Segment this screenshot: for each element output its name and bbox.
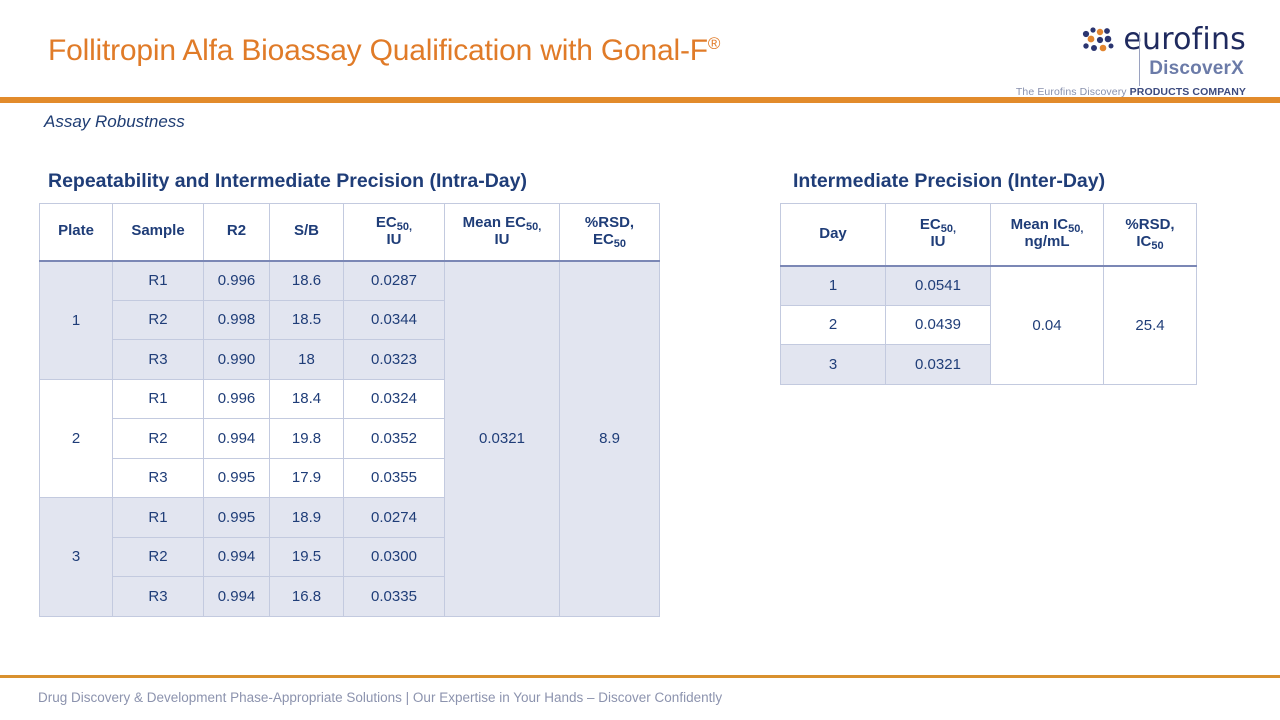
cell-mean-ec50: 0.0321: [445, 261, 560, 617]
inter-day-table-body: 10.05410.0425.420.043930.0321: [781, 266, 1197, 385]
intra-day-table-head: Plate Sample R2 S/B EC50,IU Mean EC50,IU…: [40, 204, 660, 261]
logo-wordmark: eurofins: [1123, 25, 1246, 55]
col-header-rsd-ic50: %RSD,IC50: [1104, 204, 1197, 266]
col-header-r2: R2: [204, 204, 270, 261]
rsd-label: %RSD,: [1125, 216, 1174, 233]
cell-plate: 1: [40, 261, 113, 380]
cell-sb: 19.8: [270, 419, 344, 459]
logo-divider: [1139, 32, 1140, 86]
intra-day-table: Plate Sample R2 S/B EC50,IU Mean EC50,IU…: [39, 203, 660, 617]
cell-ec50: 0.0300: [344, 537, 445, 577]
cell-r2: 0.995: [204, 458, 270, 498]
cell-r2: 0.998: [204, 300, 270, 340]
footer-accent-rule: [0, 675, 1280, 678]
col-header-ec50-iu: EC50,IU: [886, 204, 991, 266]
col-header-mean-ec50-iu: Mean EC50,IU: [445, 204, 560, 261]
cell-sb: 18.9: [270, 498, 344, 538]
cell-ec50: 0.0352: [344, 419, 445, 459]
mean-ic50-unit: ng/mL: [1025, 233, 1070, 250]
inter-day-table-head: Day EC50,IU Mean IC50,ng/mL %RSD,IC50: [781, 204, 1197, 266]
mean-ec50-unit: IU: [495, 231, 510, 248]
cell-r2: 0.996: [204, 379, 270, 419]
col-header-rsd-ec50: %RSD,EC50: [560, 204, 660, 261]
inter-day-table: Day EC50,IU Mean IC50,ng/mL %RSD,IC50 10…: [780, 203, 1197, 385]
table-header-row: Day EC50,IU Mean IC50,ng/mL %RSD,IC50: [781, 204, 1197, 266]
cell-sb: 16.8: [270, 577, 344, 617]
ec50-prefix: EC: [920, 216, 941, 233]
col-header-day: Day: [781, 204, 886, 266]
footer-tagline: Drug Discovery & Development Phase-Appro…: [38, 690, 722, 705]
table-row: 1R10.99618.60.02870.03218.9: [40, 261, 660, 301]
registered-mark: ®: [708, 34, 720, 53]
col-header-plate: Plate: [40, 204, 113, 261]
cell-ec50: 0.0274: [344, 498, 445, 538]
cell-sample: R3: [113, 577, 204, 617]
page-title-text: Follitropin Alfa Bioassay Qualification …: [48, 34, 708, 67]
cell-r2: 0.995: [204, 498, 270, 538]
cell-ec50: 0.0324: [344, 379, 445, 419]
cell-ec50: 0.0321: [886, 345, 991, 385]
cell-r2: 0.994: [204, 537, 270, 577]
page-title: Follitropin Alfa Bioassay Qualification …: [48, 34, 720, 68]
cell-sample: R3: [113, 340, 204, 380]
cell-mean-ic50: 0.04: [991, 266, 1104, 385]
cell-r2: 0.994: [204, 419, 270, 459]
intra-day-table-body: 1R10.99618.60.02870.03218.9R20.99818.50.…: [40, 261, 660, 617]
cell-ec50: 0.0335: [344, 577, 445, 617]
cell-sb: 17.9: [270, 458, 344, 498]
cell-day: 2: [781, 305, 886, 345]
cell-sample: R2: [113, 419, 204, 459]
mean-ic50-subscript: 50,: [1068, 223, 1083, 235]
cell-sample: R1: [113, 498, 204, 538]
cell-ec50: 0.0355: [344, 458, 445, 498]
cell-sb: 18.5: [270, 300, 344, 340]
cell-day: 3: [781, 345, 886, 385]
rsd-ic50-prefix: IC: [1136, 233, 1151, 250]
left-table-title: Repeatability and Intermediate Precision…: [48, 170, 527, 193]
logo-primary-row: eurofins: [978, 20, 1246, 60]
rsd-ic50-subscript: 50: [1151, 240, 1163, 252]
logo-brand-discoverx: DiscoverX: [978, 58, 1246, 80]
mean-ec50-prefix: Mean EC: [463, 214, 526, 231]
mean-ec50-subscript: 50,: [526, 221, 541, 233]
table-header-row: Plate Sample R2 S/B EC50,IU Mean EC50,IU…: [40, 204, 660, 261]
cell-sample: R2: [113, 537, 204, 577]
right-table-title: Intermediate Precision (Inter-Day): [793, 170, 1105, 193]
cell-sample: R1: [113, 379, 204, 419]
cell-r2: 0.990: [204, 340, 270, 380]
cell-ec50: 0.0344: [344, 300, 445, 340]
cell-rsd-ec50: 8.9: [560, 261, 660, 617]
cell-ec50: 0.0323: [344, 340, 445, 380]
cell-sb: 18.4: [270, 379, 344, 419]
cell-ec50: 0.0287: [344, 261, 445, 301]
cell-r2: 0.996: [204, 261, 270, 301]
section-subheading: Assay Robustness: [44, 112, 185, 132]
header-accent-rule: [0, 97, 1280, 103]
cell-sample: R1: [113, 261, 204, 301]
cell-plate: 3: [40, 498, 113, 617]
rsd-label: %RSD,: [585, 214, 634, 231]
col-header-ec50-iu: EC50,IU: [344, 204, 445, 261]
rsd-ec50-prefix: EC: [593, 231, 614, 248]
cell-ec50: 0.0541: [886, 266, 991, 306]
col-header-mean-ic50: Mean IC50,ng/mL: [991, 204, 1104, 266]
col-header-sample: Sample: [113, 204, 204, 261]
ec50-unit: IU: [931, 233, 946, 250]
cell-rsd-ic50: 25.4: [1104, 266, 1197, 385]
cell-plate: 2: [40, 379, 113, 498]
mean-ic50-prefix: Mean IC: [1011, 216, 1069, 233]
ec50-prefix: EC: [376, 214, 397, 231]
ec50-subscript: 50,: [397, 221, 412, 233]
eurofins-dots-icon: [1079, 25, 1119, 55]
cell-ec50: 0.0439: [886, 305, 991, 345]
cell-day: 1: [781, 266, 886, 306]
ec50-subscript: 50,: [941, 223, 956, 235]
cell-r2: 0.994: [204, 577, 270, 617]
rsd-ec50-subscript: 50: [614, 238, 626, 250]
cell-sb: 18: [270, 340, 344, 380]
slide-root: Follitropin Alfa Bioassay Qualification …: [0, 0, 1280, 720]
cell-sample: R3: [113, 458, 204, 498]
cell-sample: R2: [113, 300, 204, 340]
col-header-sb: S/B: [270, 204, 344, 261]
table-row: 10.05410.0425.4: [781, 266, 1197, 306]
ec50-unit: IU: [387, 231, 402, 248]
cell-sb: 19.5: [270, 537, 344, 577]
cell-sb: 18.6: [270, 261, 344, 301]
eurofins-logo: eurofins DiscoverX The Eurofins Discover…: [978, 20, 1246, 98]
